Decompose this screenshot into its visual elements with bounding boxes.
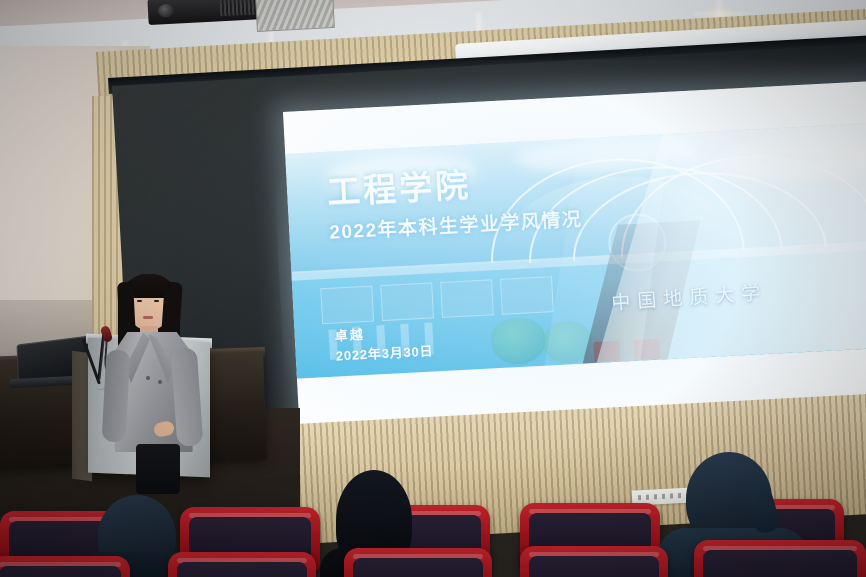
speaker-button-1 (146, 376, 150, 380)
speaker-eye-left (137, 300, 142, 302)
projection-screen: 中国地质大学 工程学院 2022年本科生学业学风情况 卓越 2022年3月30日 (283, 81, 866, 442)
seat-front-5[interactable] (694, 540, 866, 577)
speaker-legs (136, 444, 180, 494)
slide-background-photo: 中国地质大学 (285, 123, 866, 379)
wall-sign-text (638, 493, 686, 501)
seat-front-1[interactable] (0, 556, 130, 577)
lecture-hall-photo: 中国地质大学 工程学院 2022年本科生学业学风情况 卓越 2022年3月30日 (0, 0, 866, 577)
speaker-arm-right (171, 347, 204, 447)
slide-window-2 (380, 282, 434, 321)
slide-title: 工程学院 (326, 158, 472, 213)
seat-pad (0, 566, 121, 577)
seat-front-2[interactable] (168, 552, 316, 577)
air-vent (255, 0, 335, 32)
seat-front-4[interactable] (520, 546, 668, 577)
projector-vents (220, 0, 261, 16)
projector-lens (158, 4, 175, 18)
presentation-slide: 中国地质大学 工程学院 2022年本科生学业学风情况 卓越 2022年3月30日 (283, 81, 866, 442)
slide-window-3 (440, 279, 494, 318)
seat-pad (703, 550, 857, 577)
speaker-eye-right (154, 300, 159, 302)
seat-pad (177, 562, 307, 577)
slide-presenter-name: 卓越 (334, 324, 365, 345)
speaker-mouth (143, 316, 153, 319)
seat-pad (529, 556, 659, 577)
slide-window-4 (500, 276, 554, 315)
speaker (100, 272, 210, 487)
seat-front-3[interactable] (344, 548, 492, 577)
speaker-button-2 (158, 380, 162, 384)
seat-pad (353, 558, 483, 577)
speaker-arm-left (102, 349, 131, 442)
slide-window-1 (320, 286, 374, 325)
